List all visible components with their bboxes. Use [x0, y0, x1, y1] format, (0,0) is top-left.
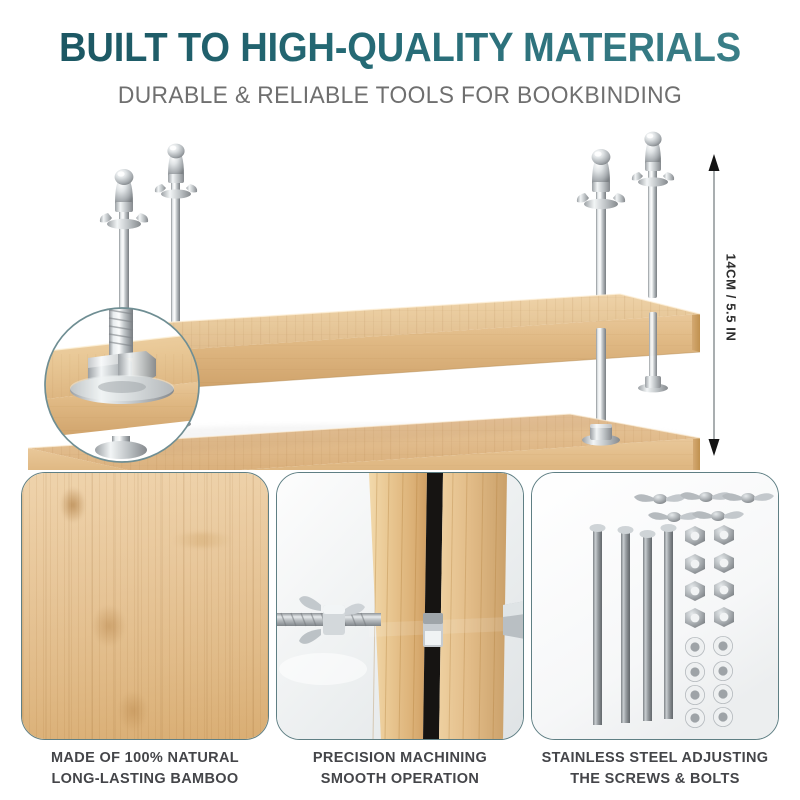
page-title: BUILT TO HIGH-QUALITY MATERIALS	[28, 26, 772, 69]
hero-product-image	[0, 118, 800, 470]
panel-precision-machining[interactable]	[276, 472, 524, 740]
screws-nuts-washers-image	[532, 473, 779, 740]
caption-hardware: STAINLESS STEEL ADJUSTING THE SCREWS & B…	[527, 748, 783, 789]
caption-hardware-line2: THE SCREWS & BOLTS	[527, 769, 783, 790]
wing-nut-rear-left	[155, 144, 197, 199]
hex-nut-right-icon	[503, 601, 524, 639]
hex-nut-center-icon	[423, 613, 443, 647]
dimension-label: 14CM / 5.5 IN	[724, 253, 739, 343]
book-press-illustration	[0, 118, 800, 470]
caption-bamboo-line2: LONG-LASTING BAMBOO	[17, 769, 273, 790]
wing-nut-front-right	[577, 149, 625, 209]
caption-hardware-line1: STAINLESS STEEL ADJUSTING	[527, 748, 783, 769]
hex-nut-lower-rear-right	[638, 376, 668, 392]
page-subtitle: DURABLE & RELIABLE TOOLS FOR BOOKBINDING	[20, 82, 780, 110]
panel-bamboo-texture[interactable]	[21, 472, 269, 740]
caption-machining-line1: PRECISION MACHINING	[272, 748, 528, 769]
bamboo-texture-image	[22, 473, 268, 739]
caption-bamboo-line1: MADE OF 100% NATURAL	[17, 748, 273, 769]
caption-machining-line2: SMOOTH OPERATION	[272, 769, 528, 790]
wing-nut-rear-right	[632, 132, 674, 187]
rod-through-boards-image	[277, 473, 524, 740]
caption-machining: PRECISION MACHINING SMOOTH OPERATION	[272, 748, 528, 789]
dimension-annotation: 14CM / 5.5 IN	[690, 140, 760, 470]
feature-panels	[0, 470, 800, 745]
panel-hardware-kit[interactable]	[531, 472, 779, 740]
infographic-root: BUILT TO HIGH-QUALITY MATERIALS DURABLE …	[0, 0, 800, 800]
threaded-rod-mid-rear-right	[649, 312, 657, 386]
caption-bamboo: MADE OF 100% NATURAL LONG-LASTING BAMBOO	[17, 748, 273, 789]
wing-nut-front-left	[100, 169, 148, 229]
